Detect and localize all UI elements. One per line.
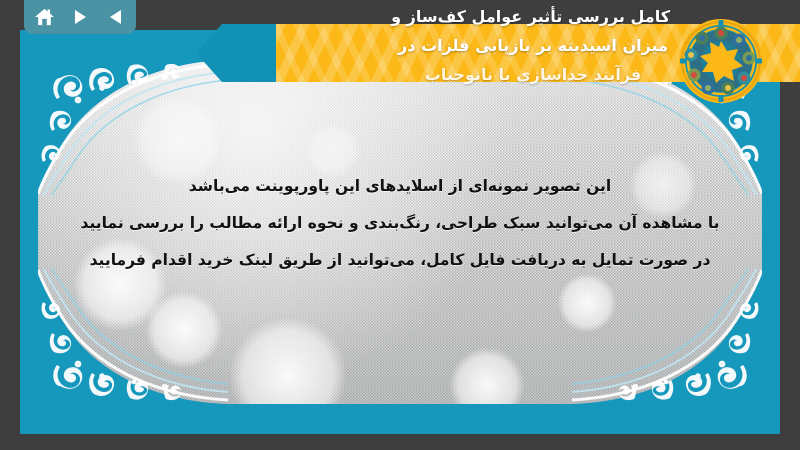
slide-canvas: این تصویر نمونه‌ای از اسلایدهای این پاور… — [38, 60, 762, 404]
banner-tab-chevron — [196, 24, 280, 82]
slide-body-text: این تصویر نمونه‌ای از اسلایدهای این پاور… — [78, 168, 722, 279]
bokeh-light — [558, 274, 616, 332]
prev-button[interactable] — [105, 6, 127, 28]
slide-body-line: با مشاهده آن می‌توانید سبک طراحی، رنگ‌بن… — [78, 205, 722, 242]
bokeh-light — [146, 292, 222, 368]
home-button[interactable] — [33, 6, 55, 28]
triangle-left-icon — [106, 7, 126, 27]
next-button[interactable] — [69, 6, 91, 28]
navigation-bar — [24, 0, 136, 34]
slide-body-line: این تصویر نمونه‌ای از اسلایدهای این پاور… — [78, 168, 722, 205]
triangle-right-icon — [70, 7, 90, 27]
slide-viewer: این تصویر نمونه‌ای از اسلایدهای این پاور… — [0, 0, 800, 450]
slide-body-line: در صورت تمایل به دریافت فایل کامل، می‌تو… — [78, 242, 722, 279]
home-icon — [34, 7, 55, 28]
persian-medallion-icon — [678, 18, 764, 104]
title-banner: کامل بررسی تأثیر عوامل کف‌ساز و میزان اس… — [196, 0, 800, 106]
